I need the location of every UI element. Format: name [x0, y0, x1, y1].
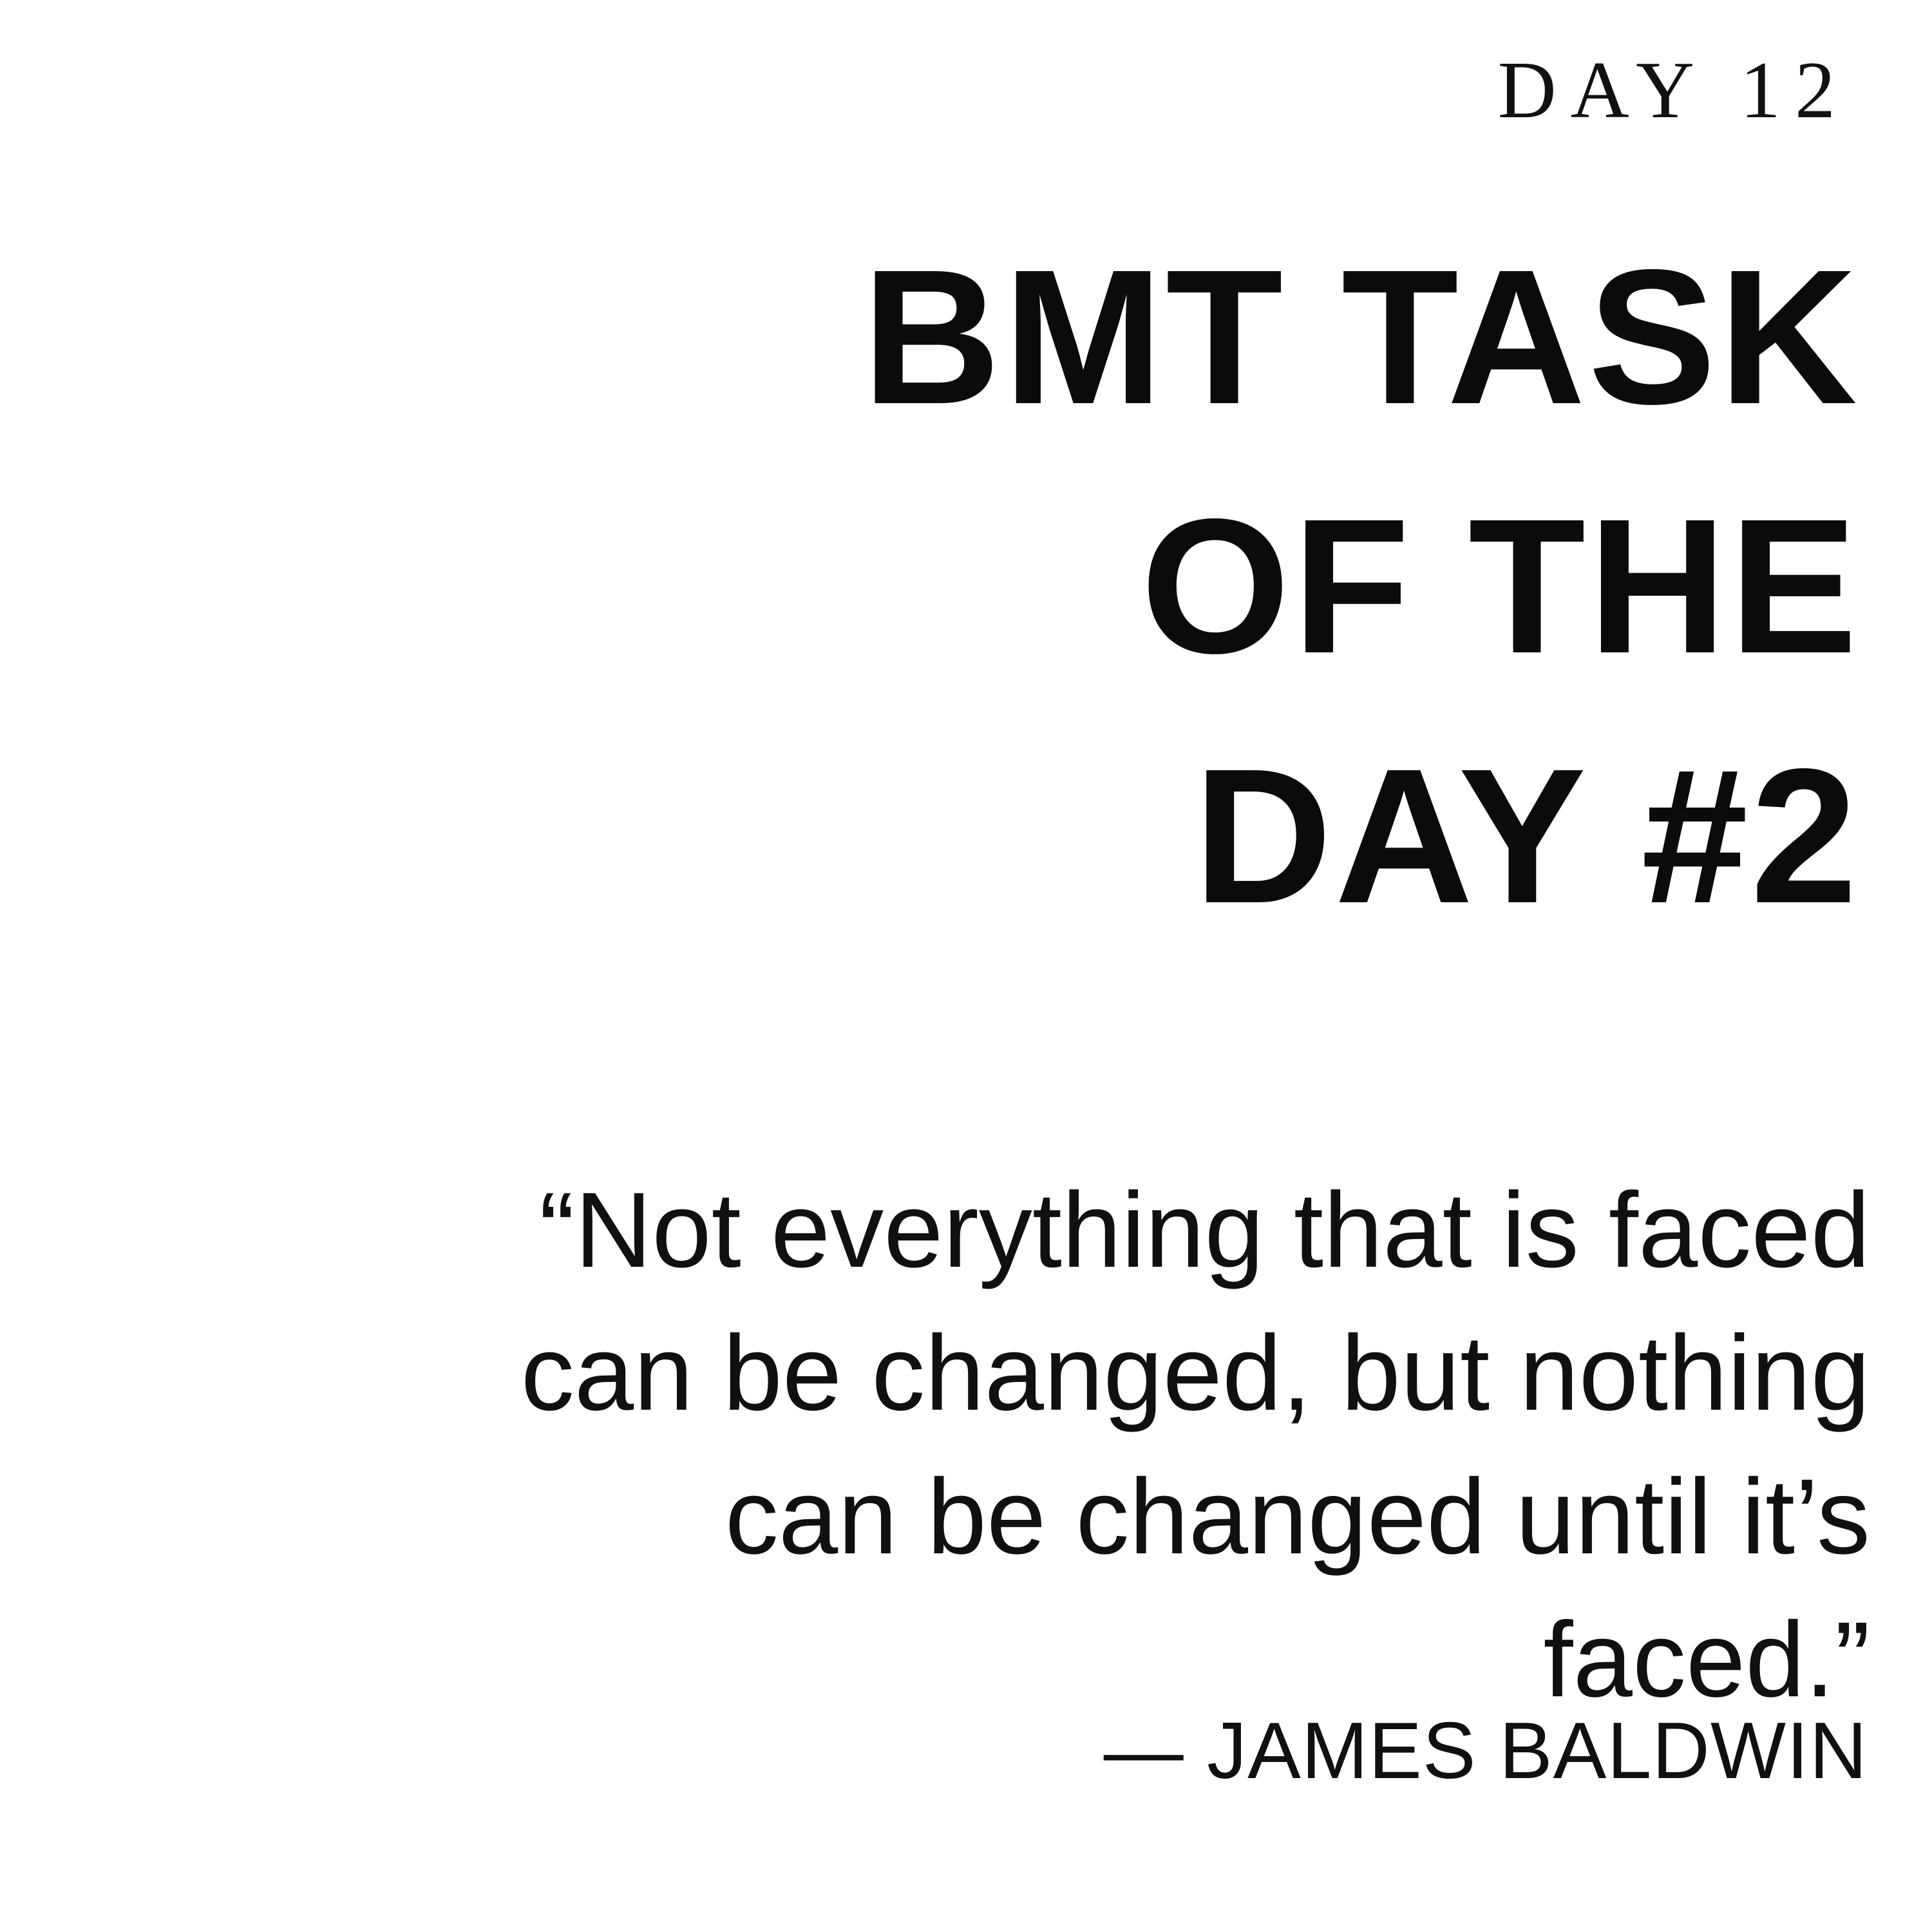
page-title: BMT TASK OF THE DAY #2 — [121, 213, 1860, 961]
quote-line-2: can be changed, but nothing — [260, 1302, 1870, 1445]
quote-card: DAY 12 BMT TASK OF THE DAY #2 “Not every… — [0, 0, 1932, 1932]
quote-line-3: can be changed until it’s — [260, 1446, 1870, 1589]
headline-line-1: BMT TASK — [121, 213, 1860, 462]
headline-line-3: DAY #2 — [121, 712, 1860, 961]
headline-line-2: OF THE — [121, 462, 1860, 711]
quote-attribution: — JAMES BALDWIN — [258, 1709, 1868, 1793]
quote-line-1: “Not everything that is faced — [260, 1159, 1870, 1302]
quote-text: “Not everything that is faced can be cha… — [260, 1159, 1870, 1732]
day-label: DAY 12 — [175, 50, 1850, 131]
